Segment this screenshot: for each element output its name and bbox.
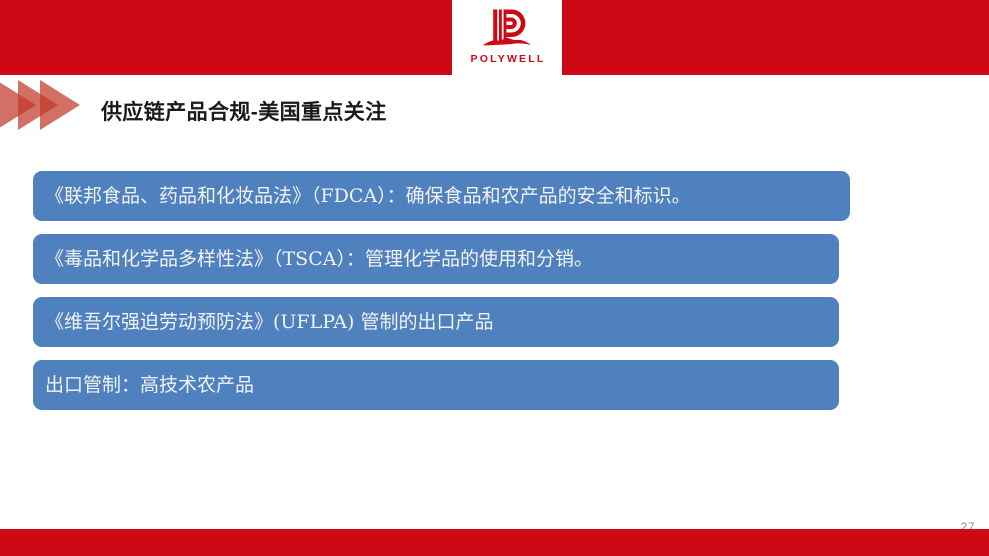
triple-arrow-icon xyxy=(0,78,108,132)
logo-plate: POLYWELL xyxy=(452,0,562,75)
content-bar: 《毒品和化学品多样性法》（TSCA）：管理化学品的使用和分销。 xyxy=(33,234,839,284)
content-bar: 《维吾尔强迫劳动预防法》(UFLPA) 管制的出口产品 xyxy=(33,297,839,347)
content-bar-list: 《联邦食品、药品和化妆品法》（FDCA）：确保食品和农产品的安全和标识。 《毒品… xyxy=(33,171,863,423)
page-title: 供应链产品合规-美国重点关注 xyxy=(101,96,387,126)
content-bar-label: 《维吾尔强迫劳动预防法》(UFLPA) 管制的出口产品 xyxy=(45,313,493,332)
content-bar: 出口管制：高技术农产品 xyxy=(33,360,839,410)
polywell-logo-icon xyxy=(478,6,536,52)
content-bar-label: 《毒品和化学品多样性法》（TSCA）：管理化学品的使用和分销。 xyxy=(45,250,593,269)
footer-bar xyxy=(0,529,989,556)
logo-wordmark: POLYWELL xyxy=(469,53,546,65)
content-bar-label: 出口管制：高技术农产品 xyxy=(45,376,254,395)
content-bar-label: 《联邦食品、药品和化妆品法》（FDCA）：确保食品和农产品的安全和标识。 xyxy=(45,187,691,206)
content-bar: 《联邦食品、药品和化妆品法》（FDCA）：确保食品和农产品的安全和标识。 xyxy=(33,171,850,221)
slide: POLYWELL 供应链产品合规-美国重点关注 《联邦食品、药品和化妆品法》（F… xyxy=(0,0,989,556)
